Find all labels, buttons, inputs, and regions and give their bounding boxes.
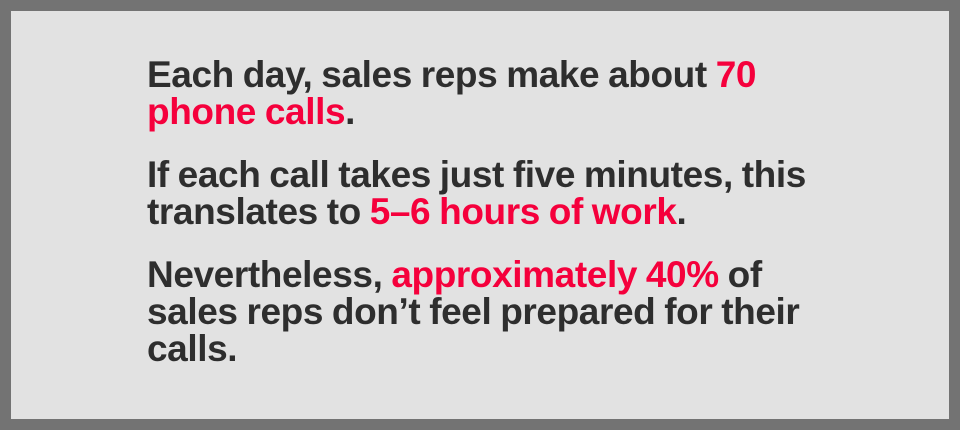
card-inner-panel: Each day, sales reps make about 70 phone…: [11, 11, 949, 419]
statement-time-spent: If each call takes just five minutes, th…: [147, 156, 847, 230]
statements-block: Each day, sales reps make about 70 phone…: [147, 56, 847, 367]
statement-text: .: [345, 91, 355, 132]
statement-daily-calls: Each day, sales reps make about 70 phone…: [147, 56, 847, 130]
highlight-metric: approximately 40%: [391, 254, 718, 295]
statement-text: .: [677, 191, 687, 232]
statement-preparedness: Nevertheless, approximately 40% of sales…: [147, 256, 847, 367]
highlight-metric: 5–6 hours of work: [370, 191, 677, 232]
infographic-card: Each day, sales reps make about 70 phone…: [0, 0, 960, 430]
statement-text: Nevertheless,: [147, 254, 391, 295]
statement-text: Each day, sales reps make about: [147, 54, 716, 95]
